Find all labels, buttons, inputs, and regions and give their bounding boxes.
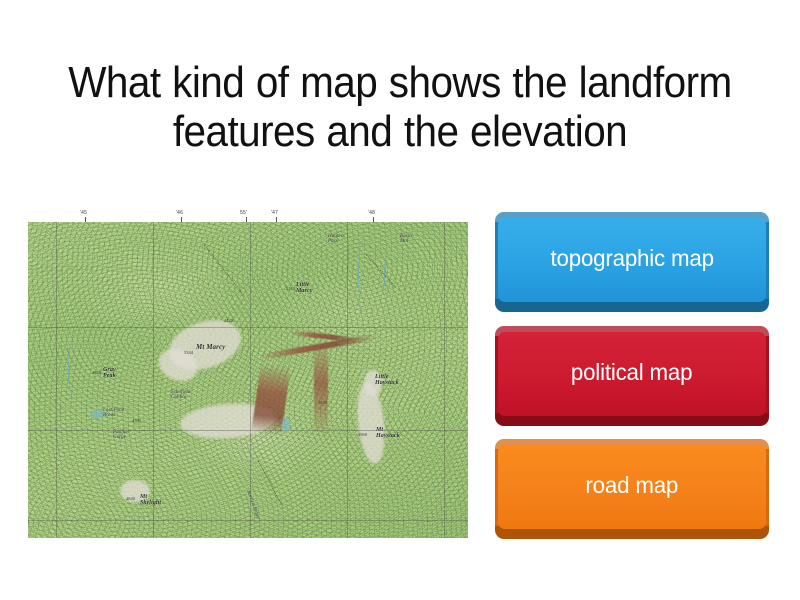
map-tick-label-1: '46 — [176, 210, 183, 216]
question-text: What kind of map shows the landform feat… — [39, 58, 760, 157]
trail-north — [204, 244, 244, 295]
map-tick-label-4: '48 — [368, 210, 375, 216]
map-tick-label-0: '45 — [80, 210, 87, 216]
map-elevation-2: 4926 — [92, 370, 101, 375]
map-tick-label-3: '47 — [271, 210, 278, 216]
map-elevation-6: 4300 — [132, 418, 141, 423]
map-terrain-canvas: Mt Marcy Little Marcy Gray Peak Schofiel… — [28, 222, 468, 538]
answer-option-label-2: road map — [586, 472, 679, 499]
map-grid-line-h0 — [28, 327, 468, 328]
map-label-little-marcy: Little Marcy — [296, 282, 313, 295]
answer-options-list: topographic map political map road map — [495, 212, 769, 539]
answer-option-label-1: political map — [571, 359, 692, 386]
map-label-gray-peak: Gray Peak — [103, 367, 116, 380]
answer-option-label-0: topographic map — [550, 245, 713, 272]
map-label-basin-mtn: Basin Mtn — [400, 234, 412, 245]
answer-option-topographic-map[interactable]: topographic map — [495, 212, 769, 312]
map-grid-line-v3 — [347, 222, 348, 538]
stream-west — [68, 342, 77, 394]
stream-north — [358, 242, 368, 312]
map-elevation-1: 5114 — [286, 286, 295, 291]
map-elevation-0: 5344 — [184, 350, 193, 355]
map-label-bartlett-ridge: Bartlett Ridge — [245, 490, 260, 520]
map-label-mt-marcy: Mt Marcy — [196, 344, 225, 351]
quiz-stage: What kind of map shows the landform feat… — [0, 0, 800, 600]
answer-option-road-map[interactable]: road map — [495, 439, 769, 539]
map-grid-line-h2 — [28, 520, 468, 521]
map-label-mt-skylight: Mt Skylight — [140, 494, 161, 507]
cliff-band-east — [314, 340, 328, 436]
map-label-hunters-pass: Hunters Pass — [328, 234, 345, 245]
pond-small-east — [282, 418, 290, 432]
map-elevation-7: 3920 — [318, 400, 327, 405]
map-tick-label-2: 55' — [240, 210, 247, 216]
map-elevation-4: 4840 — [126, 496, 135, 501]
trail-south — [258, 460, 283, 506]
map-grid-line-v0 — [56, 222, 57, 538]
map-elevation-5: 4420 — [224, 318, 233, 323]
map-top-margin: '45 '46 55' '47 '48 — [28, 209, 468, 222]
map-label-lost-pond-brook: Lost Pond Brook — [103, 408, 124, 419]
question-block: What kind of map shows the landform feat… — [0, 58, 800, 157]
map-grid-line-h1 — [28, 430, 468, 431]
map-label-little-haystack: Little Haystack — [375, 374, 399, 387]
answer-option-political-map[interactable]: political map — [495, 326, 769, 426]
map-label-schofield-cobble: Schofield Cobble — [171, 390, 191, 401]
map-grid-line-v4 — [444, 222, 445, 538]
map-grid-line-v1 — [153, 222, 154, 538]
topographic-map-image: '45 '46 55' '47 '48 — [28, 209, 468, 538]
map-label-panther-gorge: Panther Gorge — [113, 430, 130, 441]
map-elevation-3: 4960 — [358, 432, 367, 437]
map-label-mt-haystack: Mt Haystack — [376, 427, 400, 440]
